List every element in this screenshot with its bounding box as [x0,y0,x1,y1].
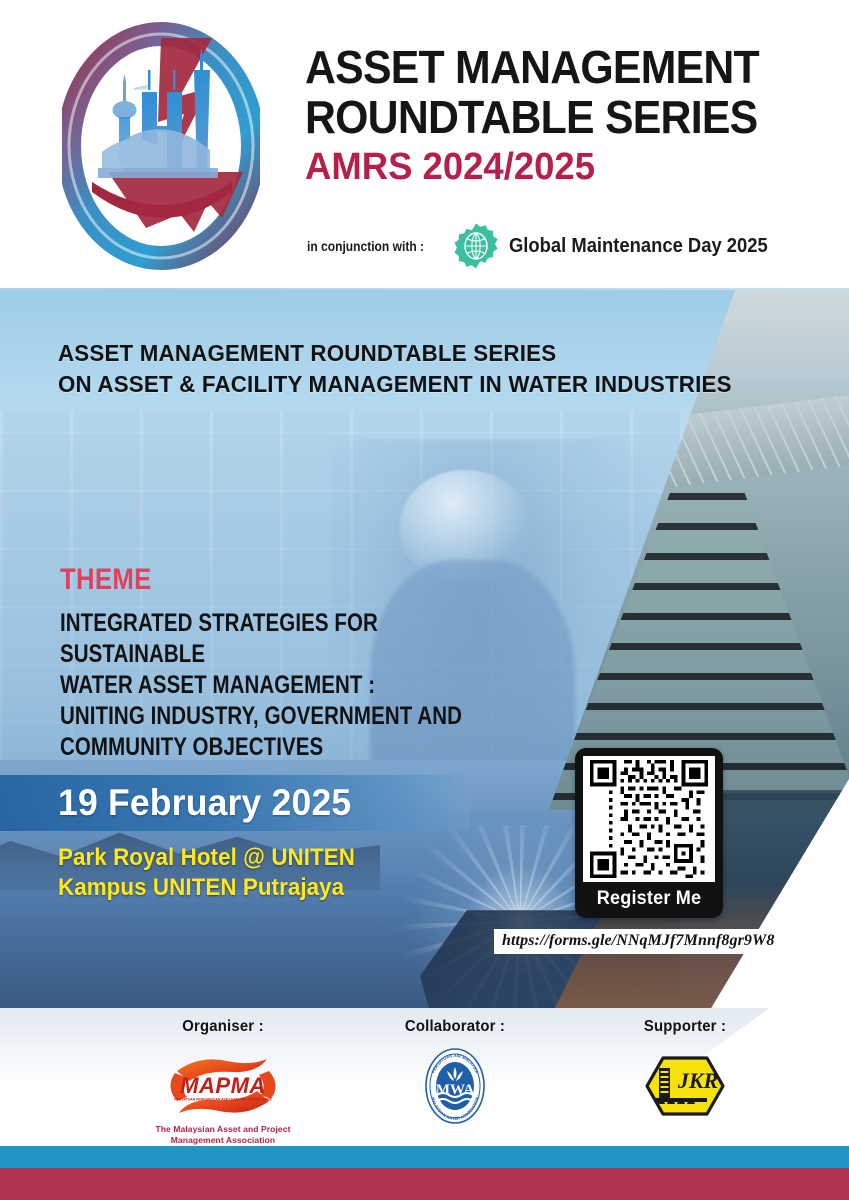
registration-url[interactable]: https://forms.gle/NNqMJf7Mnnf8gr9W8 [494,929,782,954]
theme-statement: INTEGRATED STRATEGIES FOR SUSTAINABLE WA… [60,608,486,763]
amrs-emblem-logo [62,22,260,270]
footer-column-collaborator: Collaborator : MWA [330,1018,580,1124]
register-qr-card[interactable]: Register Me [575,748,723,918]
footer-column-supporter: Supporter : JKR [570,1018,800,1124]
poster-footer: Organiser : MAPMA PERSATUAN [0,1008,849,1148]
footer-column-organiser: Organiser : MAPMA PERSATUAN [78,1018,368,1146]
event-subtitle: ASSET MANAGEMENT ROUNDTABLE SERIES ON AS… [58,338,776,400]
svg-text:MWA: MWA [436,1082,474,1098]
register-me-label[interactable]: Register Me [586,882,711,916]
mwa-logo: MWA · PERSATUAN AIR MALAYSIA · · MALAYSI… [330,1050,580,1122]
mapma-caption: The Malaysian Asset and Project Manageme… [78,1124,368,1146]
organiser-label: Organiser : [88,1018,358,1036]
bottom-bar-red [0,1168,849,1200]
poster-title-line2: ROUNDTABLE SERIES [305,92,789,142]
poster-title-amrs: AMRS 2024/2025 [305,144,804,190]
bottom-bar-blue [0,1146,849,1168]
in-conjunction-label: in conjunction with : [307,238,424,254]
header-title-block: ASSET MANAGEMENT ROUNDTABLE SERIES AMRS … [305,42,825,190]
global-maintenance-day-row: in conjunction with : Global Maintenance… [307,222,790,270]
poster-header: ASSET MANAGEMENT ROUNDTABLE SERIES AMRS … [0,0,849,290]
jkr-logo: JKR [570,1050,800,1122]
supporter-label: Supporter : [578,1018,792,1036]
global-maintenance-day-label: Global Maintenance Day 2025 [509,235,768,258]
poster-root: ASSET MANAGEMENT ROUNDTABLE SERIES AMRS … [0,0,849,1200]
svg-text:PERSATUAN PENGURUSAN ASET DAN: PERSATUAN PENGURUSAN ASET DAN PROJEK MAL… [174,1098,272,1102]
event-date: 19 February 2025 [58,779,351,827]
collaborator-label: Collaborator : [339,1018,572,1036]
theme-heading: THEME [60,563,152,597]
qr-code-icon[interactable] [583,756,715,882]
poster-title-line1: ASSET MANAGEMENT [305,42,789,92]
svg-text:MAPMA: MAPMA [180,1073,266,1098]
svg-text:JKR: JKR [677,1068,718,1093]
mapma-logo: MAPMA PERSATUAN PENGURUSAN ASET DAN PROJ… [78,1050,368,1122]
event-venue: Park Royal Hotel @ UNITEN Kampus UNITEN … [58,843,458,903]
globe-gear-icon [452,222,500,270]
